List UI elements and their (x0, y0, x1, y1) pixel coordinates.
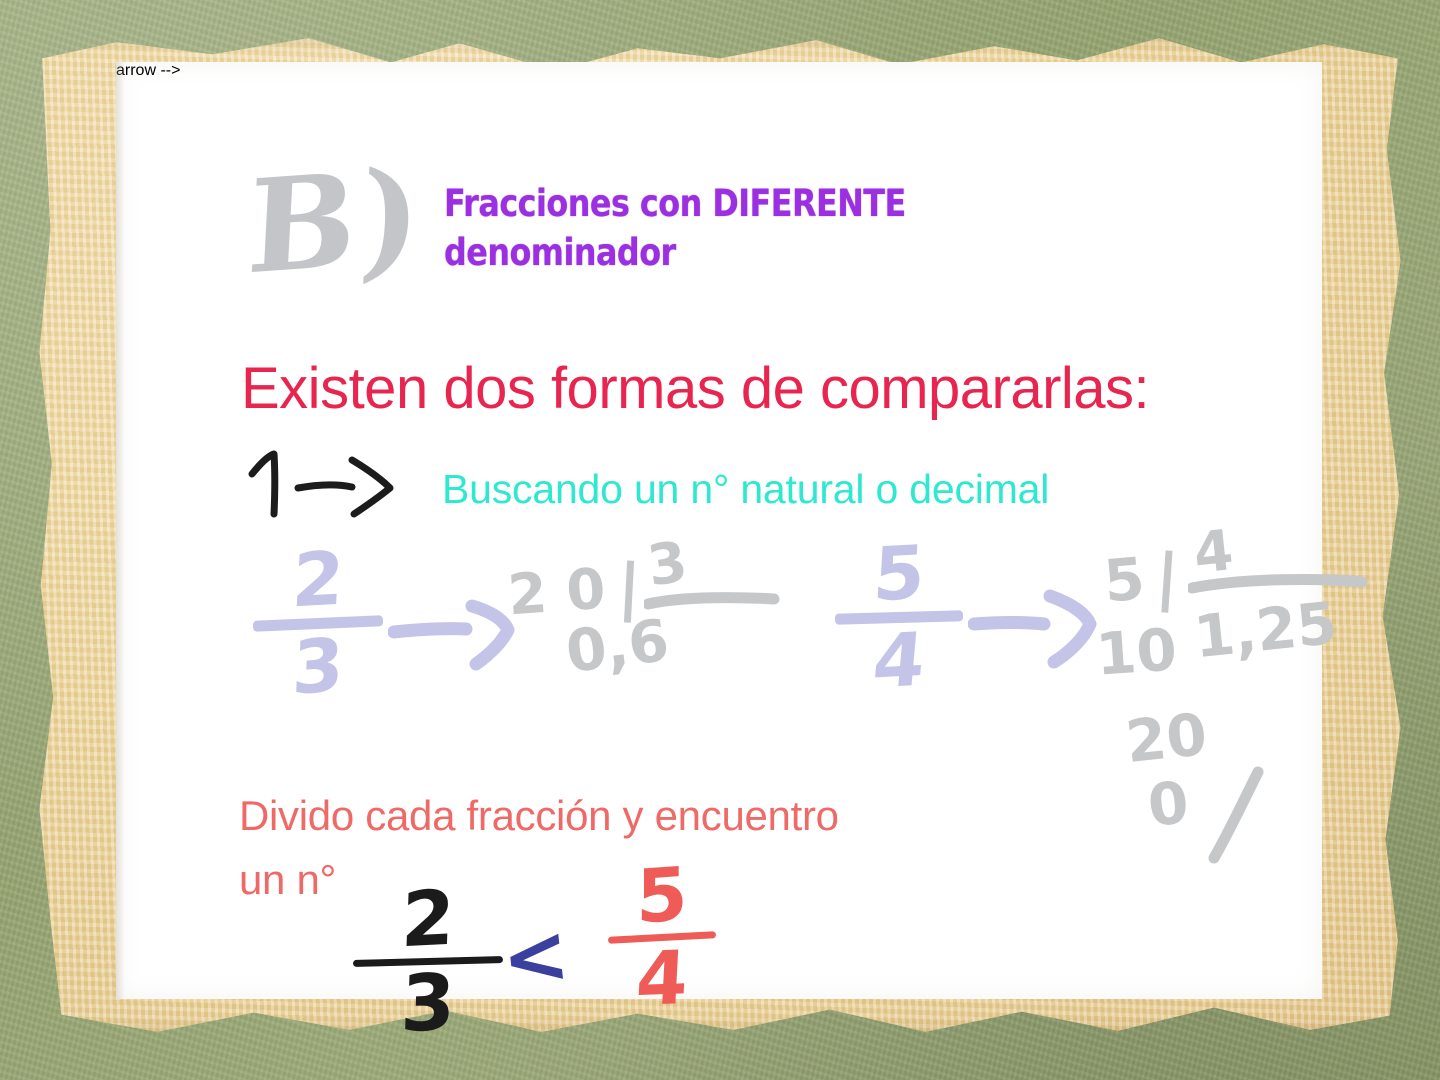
denominator: 4 (825, 623, 974, 698)
denominator: 3 (242, 628, 393, 706)
denominator: 4 (600, 943, 724, 1015)
long-division-5-by-4: 5 | 4 10 1,25 20 0 (1096, 534, 1416, 854)
subtitle-compare-ways: Existen dos formas de compararlas: (241, 355, 1149, 422)
page-title-line1: Fracciones con DIFERENTE (444, 182, 906, 225)
section-marker-b: B) (245, 151, 428, 292)
comparison-fraction-right: 5 4 (602, 862, 722, 1013)
slide-canvas: B) Fracciones con DIFERENTE denominador … (0, 0, 1440, 1080)
page-title-line2: denominador (444, 229, 1046, 278)
denominator: 3 (347, 966, 510, 1043)
work-arrow-2-icon (968, 580, 1108, 675)
numerator: 2 (347, 880, 510, 958)
whiteboard-area: B) Fracciones con DIFERENTE denominador … (116, 62, 1322, 999)
comparison-operator: < (497, 907, 573, 1006)
work-arrow-1-icon (388, 586, 528, 677)
step-1-text: Buscando un n° natural o decimal (442, 466, 1049, 513)
division-step-1: 10 (1094, 615, 1179, 688)
comparison-fraction-left: 2 3 (348, 884, 508, 1041)
numerator: 5 (602, 858, 722, 934)
numerator: 5 (826, 536, 972, 611)
work-fraction-2-3: 2 3 (244, 546, 392, 701)
page-title: Fracciones con DIFERENTE denominador (444, 180, 1046, 278)
long-division-2-by-3: 2 0 | 3 0,6 (508, 538, 808, 708)
work-fraction-5-4: 5 4 (828, 540, 970, 695)
step-1-marker-icon (244, 448, 404, 518)
numerator: 2 (242, 542, 394, 618)
divisor: 3 (644, 530, 692, 600)
dividend: 5 (1101, 544, 1147, 615)
quotient: 0,6 (562, 606, 672, 686)
quotient: 1,25 (1191, 589, 1340, 672)
instruction-note-line1: Divido cada fracción y encuentro (239, 784, 999, 848)
division-step-2: 20 (1123, 700, 1210, 776)
division-remainder: 0 (1145, 768, 1192, 840)
division-bar: | (1153, 539, 1181, 613)
